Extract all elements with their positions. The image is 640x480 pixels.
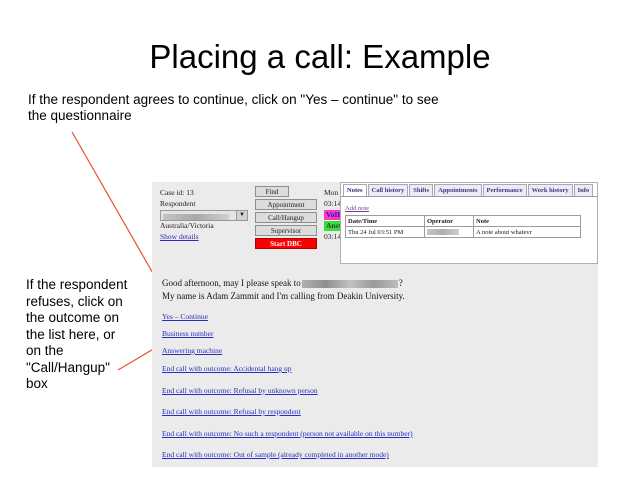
respondent-value-redacted: [163, 214, 229, 220]
notes-panel: Notes Call history Shifts Appointments P…: [340, 182, 598, 264]
tab-performance[interactable]: Performance: [483, 184, 527, 196]
supervisor-button[interactable]: Supervisor: [255, 225, 317, 236]
case-id-label: Case id: 13: [160, 188, 252, 199]
start-dbc-button[interactable]: Start DBC: [255, 238, 317, 249]
call-script-text: Good afternoon, may I please speak to? M…: [162, 277, 582, 302]
respondent-name-redaction: [302, 280, 398, 288]
find-button[interactable]: Find: [255, 186, 289, 197]
tab-appointments[interactable]: Appointments: [434, 184, 481, 196]
embedded-app-screenshot: Case id: 13 Respondent ▼ Australia/Victo…: [152, 182, 598, 467]
operator-redaction-bar: [427, 229, 459, 235]
end-call-outcome-links: End call with outcome: Accidental hang u…: [162, 364, 592, 467]
end-call-out-of-sample-link[interactable]: End call with outcome: Out of sample (al…: [162, 450, 592, 459]
timezone-label: Australia/Victoria: [160, 221, 252, 232]
script-line-1-before: Good afternoon, may I please speak to: [162, 278, 301, 288]
end-call-refusal-unknown-person-link[interactable]: End call with outcome: Refusal by unknow…: [162, 386, 592, 395]
tab-shifts[interactable]: Shifts: [409, 184, 433, 196]
respondent-label: Respondent: [160, 199, 252, 210]
show-details-link[interactable]: Show details: [160, 232, 252, 243]
tab-work-history[interactable]: Work history: [528, 184, 573, 196]
end-call-accidental-hang-up-link[interactable]: End call with outcome: Accidental hang u…: [162, 364, 592, 373]
tab-info[interactable]: Info: [574, 184, 594, 196]
chevron-down-icon[interactable]: ▼: [236, 211, 247, 220]
script-line-1: Good afternoon, may I please speak to?: [162, 277, 582, 290]
call-hangup-button[interactable]: Call/Hangup: [255, 212, 317, 223]
app-top-bar: Case id: 13 Respondent ▼ Australia/Victo…: [152, 182, 598, 264]
cell-datetime: Thu 24 Jul 03:51 PM: [346, 227, 425, 238]
notes-table: Date/Time Operator Note Thu 24 Jul 03:51…: [345, 215, 581, 238]
column-header-datetime: Date/Time: [346, 216, 425, 227]
column-header-operator: Operator: [425, 216, 474, 227]
respondent-select[interactable]: ▼: [160, 210, 248, 221]
column-header-note: Note: [474, 216, 581, 227]
call-script-area: Good afternoon, may I please speak to? M…: [152, 264, 598, 467]
case-panel: Case id: 13 Respondent ▼ Australia/Victo…: [160, 188, 252, 242]
end-call-no-such-respondent-link[interactable]: End call with outcome: No such a respond…: [162, 429, 592, 438]
table-header-row: Date/Time Operator Note: [346, 216, 581, 227]
primary-outcome-links: Yes – Continue Business number Answering…: [162, 312, 582, 366]
caption-left-text: If the respondent refuses, click on the …: [26, 277, 131, 393]
yes-continue-link[interactable]: Yes – Continue: [162, 312, 582, 321]
script-line-2: My name is Adam Zammit and I'm calling f…: [162, 290, 582, 303]
add-note-link[interactable]: Add note: [345, 205, 369, 212]
cell-operator-redacted: [425, 227, 474, 238]
page-title: Placing a call: Example: [0, 38, 640, 76]
business-number-link[interactable]: Business number: [162, 329, 582, 338]
end-call-refusal-respondent-link[interactable]: End call with outcome: Refusal by respon…: [162, 407, 592, 416]
table-row[interactable]: Thu 24 Jul 03:51 PM A note about whatevr: [346, 227, 581, 238]
script-line-1-after: ?: [399, 278, 403, 288]
caption-top-text: If the respondent agrees to continue, cl…: [28, 92, 458, 124]
tab-strip: Notes Call history Shifts Appointments P…: [341, 183, 597, 197]
tab-call-history[interactable]: Call history: [368, 184, 409, 196]
action-buttons: Find Appointment Call/Hangup Supervisor …: [255, 186, 317, 251]
tab-notes[interactable]: Notes: [343, 184, 367, 196]
cell-note: A note about whatevr: [474, 227, 581, 238]
answering-machine-link[interactable]: Answering machine: [162, 346, 582, 355]
appointment-button[interactable]: Appointment: [255, 199, 317, 210]
